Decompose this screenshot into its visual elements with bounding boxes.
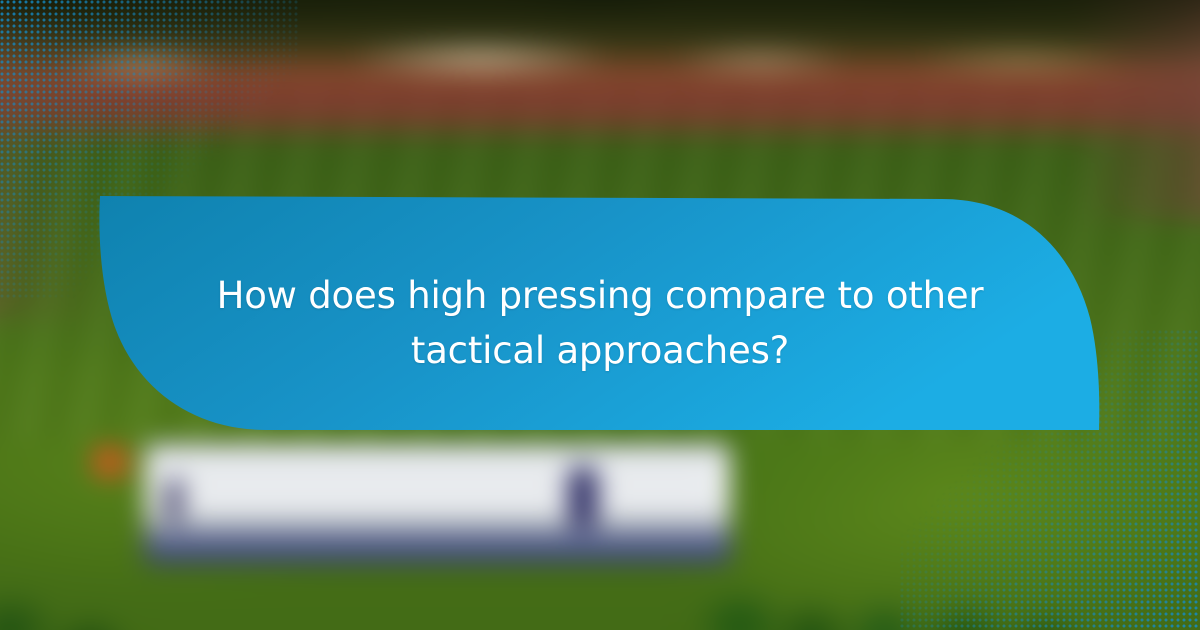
background-orange-marker (93, 447, 127, 477)
background-person-right (568, 466, 598, 528)
share-card: How does high pressing compare to other … (0, 0, 1200, 630)
background-person-left (166, 478, 182, 522)
question-text: How does high pressing compare to other … (160, 268, 1040, 378)
background-tree-line (0, 0, 1200, 60)
background-bushes (0, 540, 1200, 630)
background-dugout-rail (165, 479, 710, 482)
